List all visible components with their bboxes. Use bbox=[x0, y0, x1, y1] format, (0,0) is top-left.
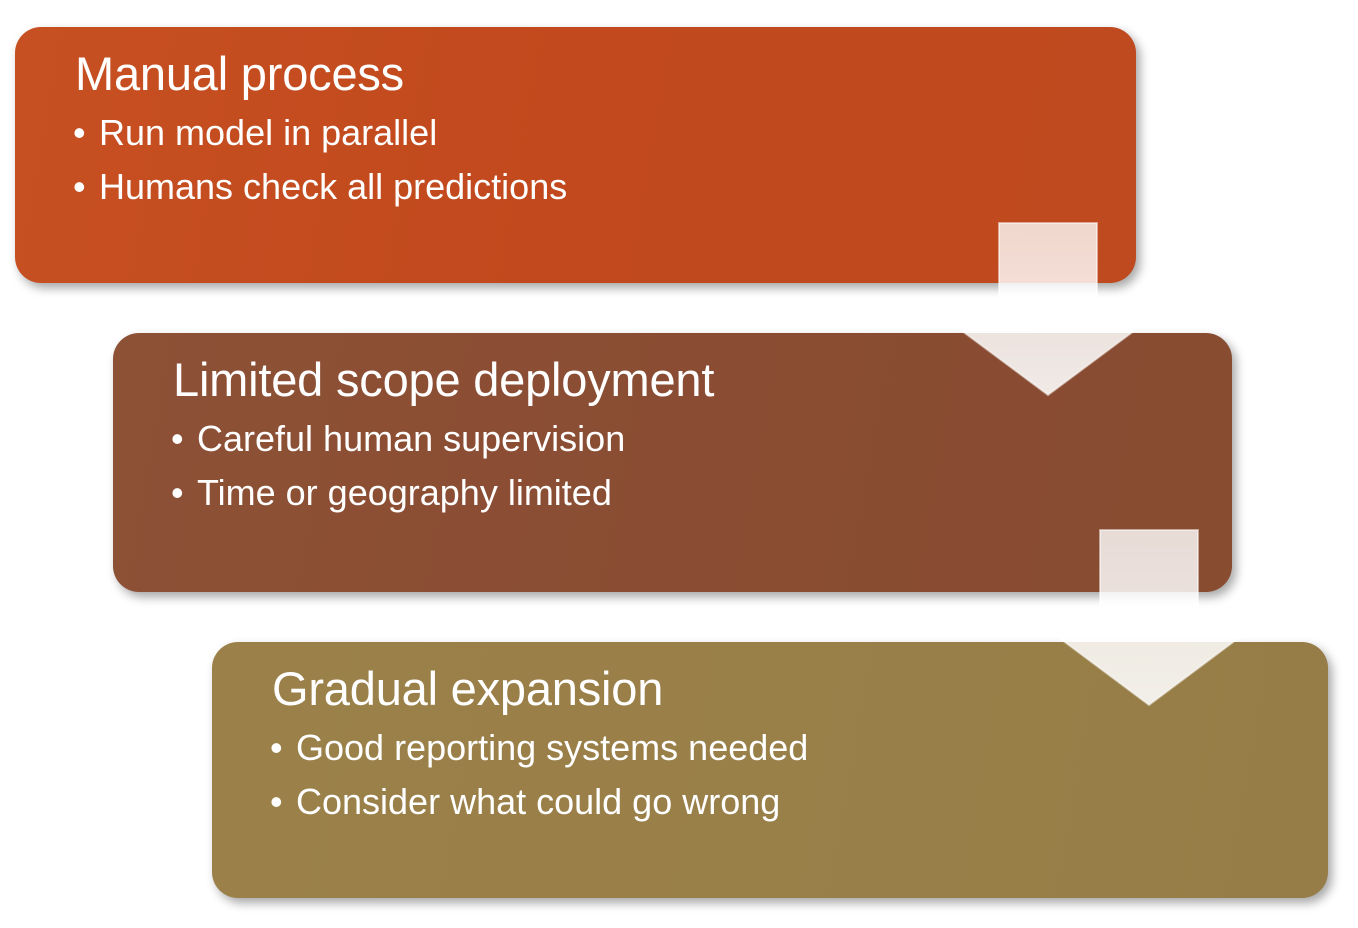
diagram-canvas: Manual process • Run model in parallel •… bbox=[0, 0, 1358, 928]
list-item: • Good reporting systems needed bbox=[270, 727, 1294, 769]
list-item: • Careful human supervision bbox=[171, 418, 1198, 460]
bullet-icon: • bbox=[73, 115, 99, 151]
list-item-label: Consider what could go wrong bbox=[296, 781, 780, 823]
list-item: • Time or geography limited bbox=[171, 472, 1198, 514]
bullet-icon: • bbox=[270, 784, 296, 820]
list-item-label: Careful human supervision bbox=[197, 418, 625, 460]
list-item: • Humans check all predictions bbox=[73, 166, 1102, 208]
stage-title: Gradual expansion bbox=[246, 664, 1294, 715]
stage-bullet-list: • Careful human supervision • Time or ge… bbox=[147, 418, 1198, 515]
bullet-icon: • bbox=[270, 730, 296, 766]
stage-card-limited-scope-deployment: Limited scope deployment • Careful human… bbox=[113, 333, 1232, 592]
stage-card-manual-process: Manual process • Run model in parallel •… bbox=[15, 27, 1136, 283]
stage-title: Manual process bbox=[49, 49, 1102, 100]
stage-bullet-list: • Run model in parallel • Humans check a… bbox=[49, 112, 1102, 209]
stage-title: Limited scope deployment bbox=[147, 355, 1198, 406]
list-item-label: Humans check all predictions bbox=[99, 166, 567, 208]
list-item: • Consider what could go wrong bbox=[270, 781, 1294, 823]
stage-card-gradual-expansion: Gradual expansion • Good reporting syste… bbox=[212, 642, 1328, 898]
list-item-label: Run model in parallel bbox=[99, 112, 437, 154]
list-item-label: Time or geography limited bbox=[197, 472, 612, 514]
bullet-icon: • bbox=[171, 421, 197, 457]
stage-bullet-list: • Good reporting systems needed • Consid… bbox=[246, 727, 1294, 824]
bullet-icon: • bbox=[73, 169, 99, 205]
list-item: • Run model in parallel bbox=[73, 112, 1102, 154]
list-item-label: Good reporting systems needed bbox=[296, 727, 808, 769]
bullet-icon: • bbox=[171, 475, 197, 511]
